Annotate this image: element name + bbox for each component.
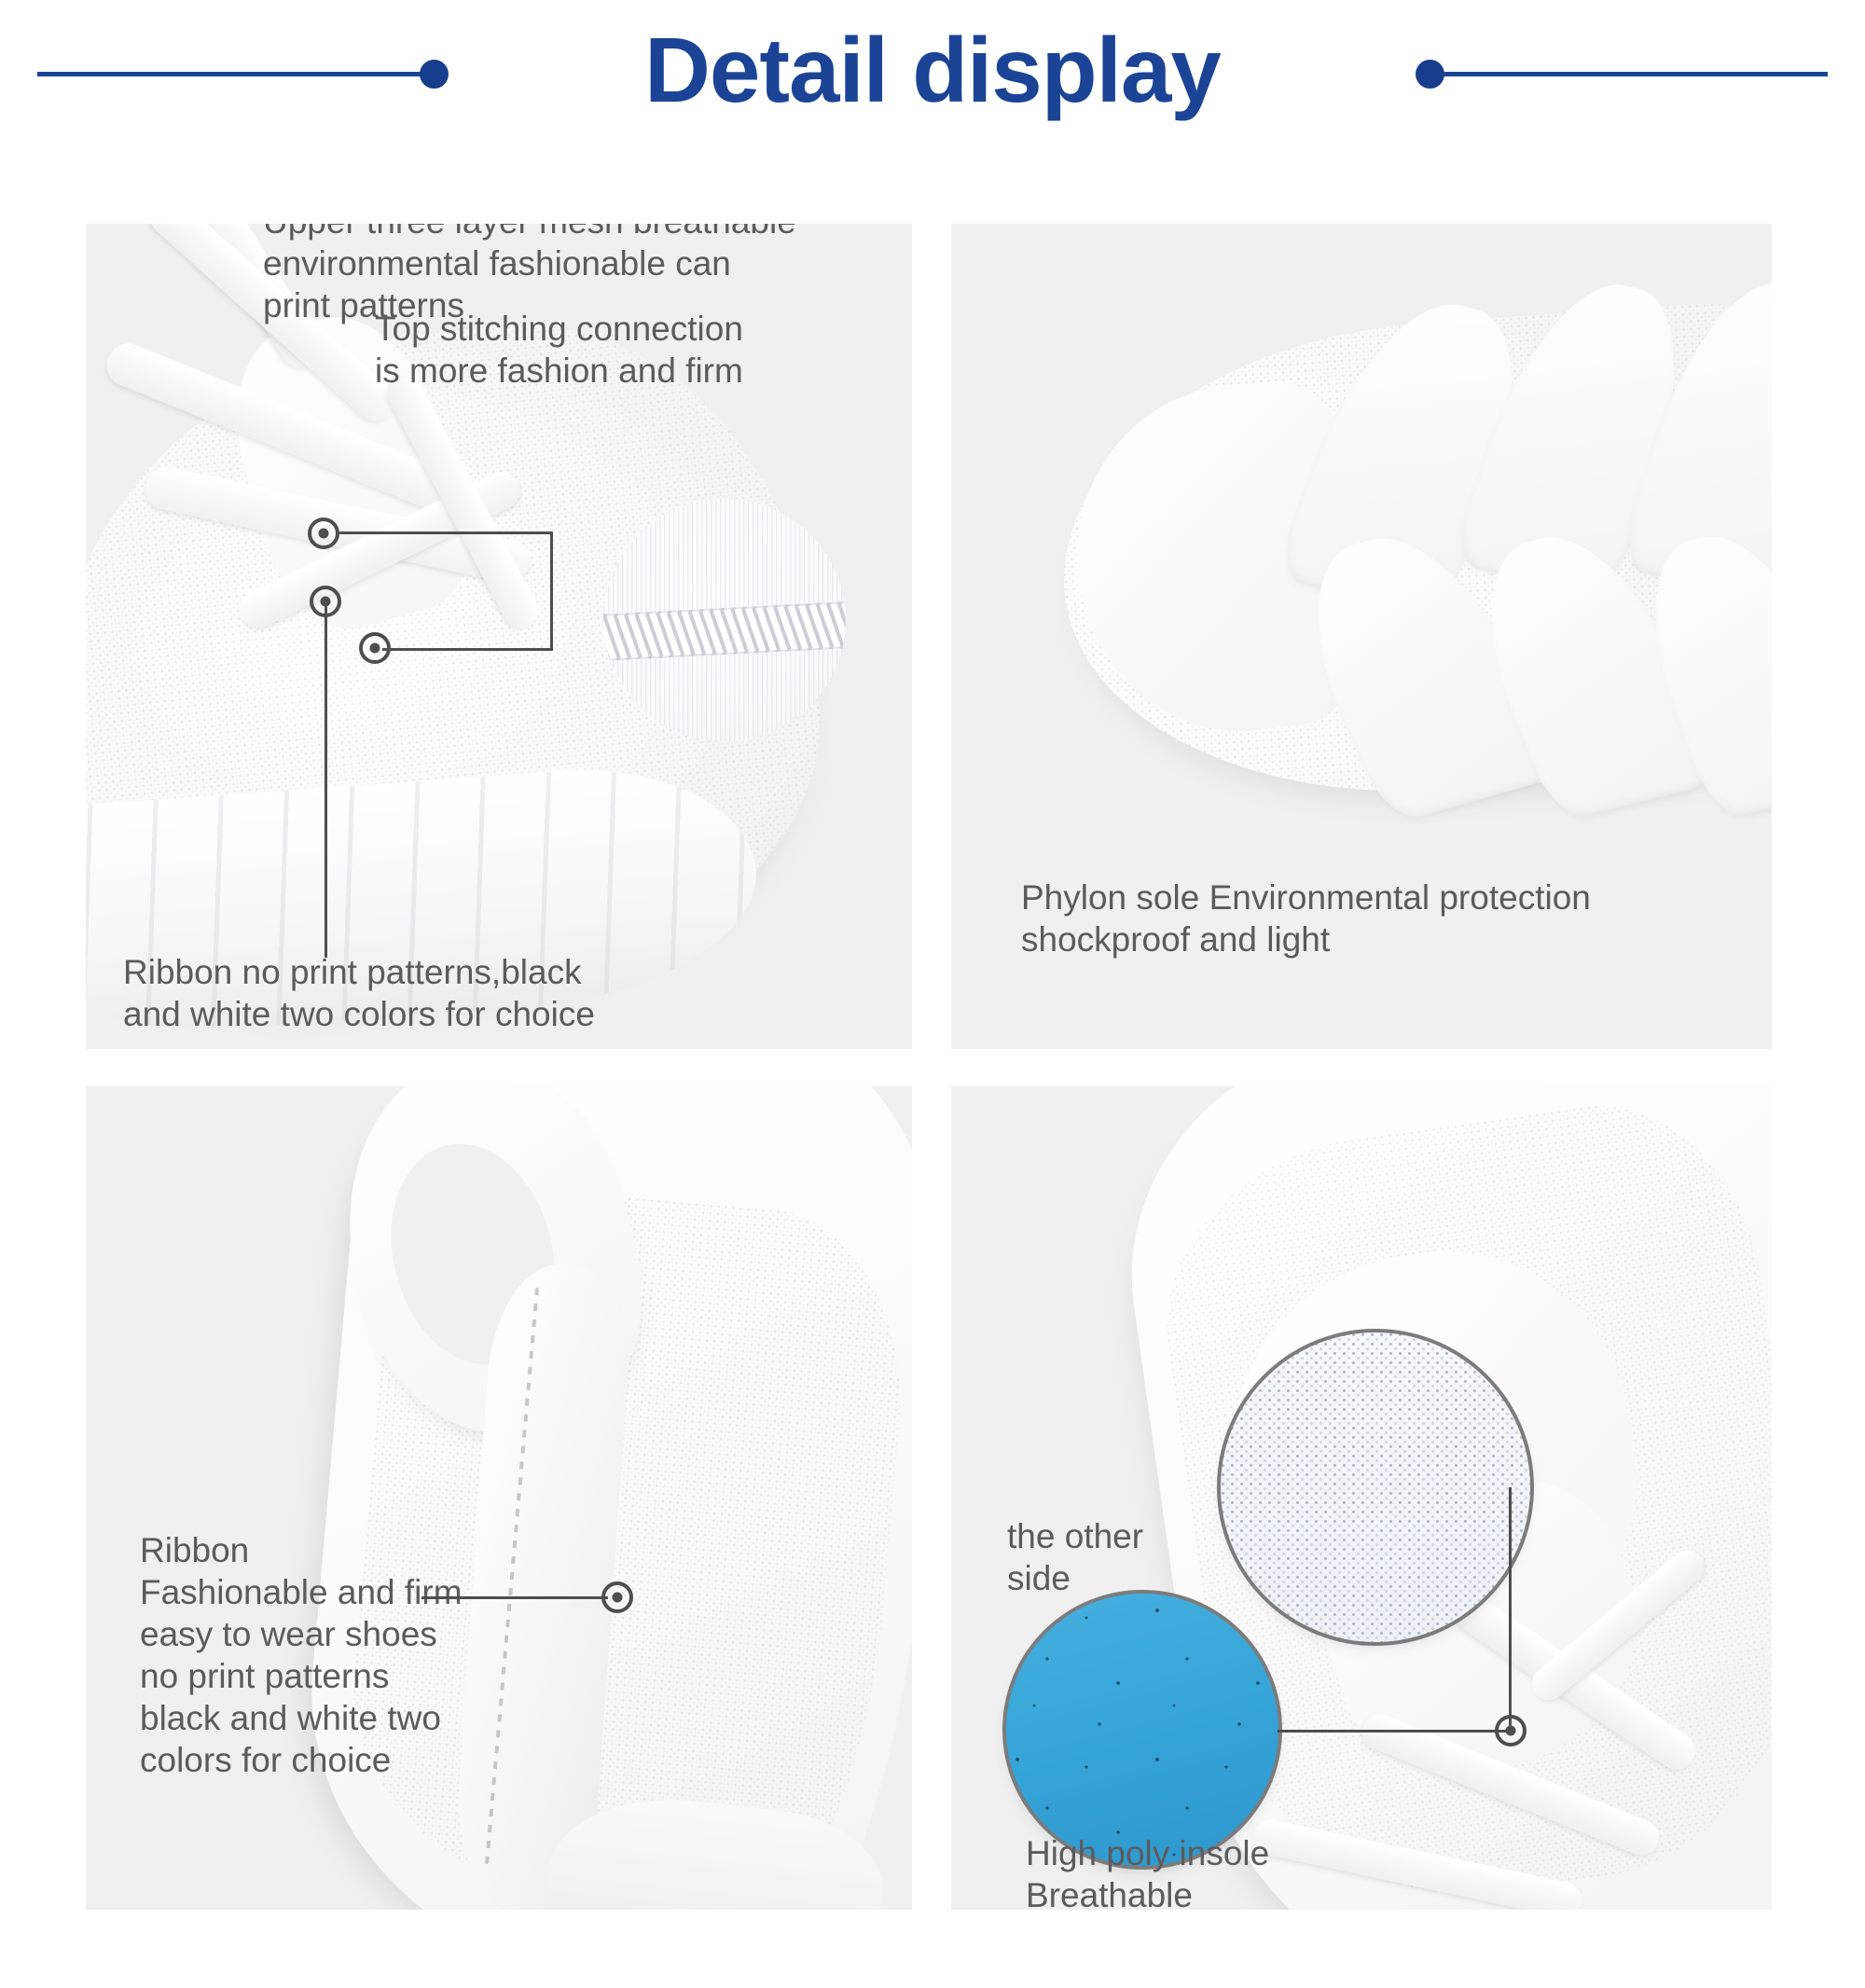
blue-insole-closeup-circle <box>1002 1590 1282 1870</box>
panel-upper-mesh: Upper three layer mesh breathable enviro… <box>86 224 912 1049</box>
header-rule-right <box>1444 72 1828 76</box>
caption-ribbon: Ribbon Fashionable and firm easy to wear… <box>140 1529 541 1781</box>
callout-marker[interactable] <box>308 518 339 549</box>
caption-high-poly-insole: High poly insole Breathable Deodorant <box>1026 1832 1417 1910</box>
header-dot-right <box>1416 60 1444 89</box>
caption-phylon-sole: Phylon sole Environmental protection sho… <box>1021 877 1767 960</box>
leader-line <box>325 743 327 958</box>
heel-collar-photo <box>86 1086 912 1910</box>
callout-marker[interactable] <box>601 1581 633 1613</box>
leader-line <box>550 532 553 648</box>
page-header: Detail display <box>0 0 1865 159</box>
leader-line <box>338 532 553 534</box>
detail-panel-grid: Upper three layer mesh breathable enviro… <box>86 224 1772 1910</box>
panel-insole: the other side High poly insole Breathab… <box>951 1086 1772 1910</box>
caption-top-stitching: Top stitching connection is more fashion… <box>375 308 897 392</box>
stitching-closeup-circle <box>603 499 846 741</box>
panel-ribbon-collar: Ribbon Fashionable and firm easy to wear… <box>86 1086 912 1910</box>
page-title: Detail display <box>0 9 1865 131</box>
leader-line <box>325 601 327 743</box>
callout-marker[interactable] <box>1495 1715 1527 1746</box>
panel-phylon-sole: Phylon sole Environmental protection sho… <box>951 224 1772 1049</box>
caption-other-side: the other side <box>1007 1515 1212 1599</box>
callout-marker[interactable] <box>359 632 391 664</box>
leader-line <box>382 648 438 651</box>
leader-line <box>1509 1487 1512 1732</box>
leader-line <box>421 1596 608 1599</box>
leader-line <box>435 648 553 651</box>
leader-line <box>1278 1730 1511 1733</box>
callout-marker[interactable] <box>310 586 341 617</box>
mesh-texture-closeup-circle <box>1217 1329 1534 1646</box>
caption-ribbon-print: Ribbon no print patterns,black and white… <box>123 951 683 1035</box>
